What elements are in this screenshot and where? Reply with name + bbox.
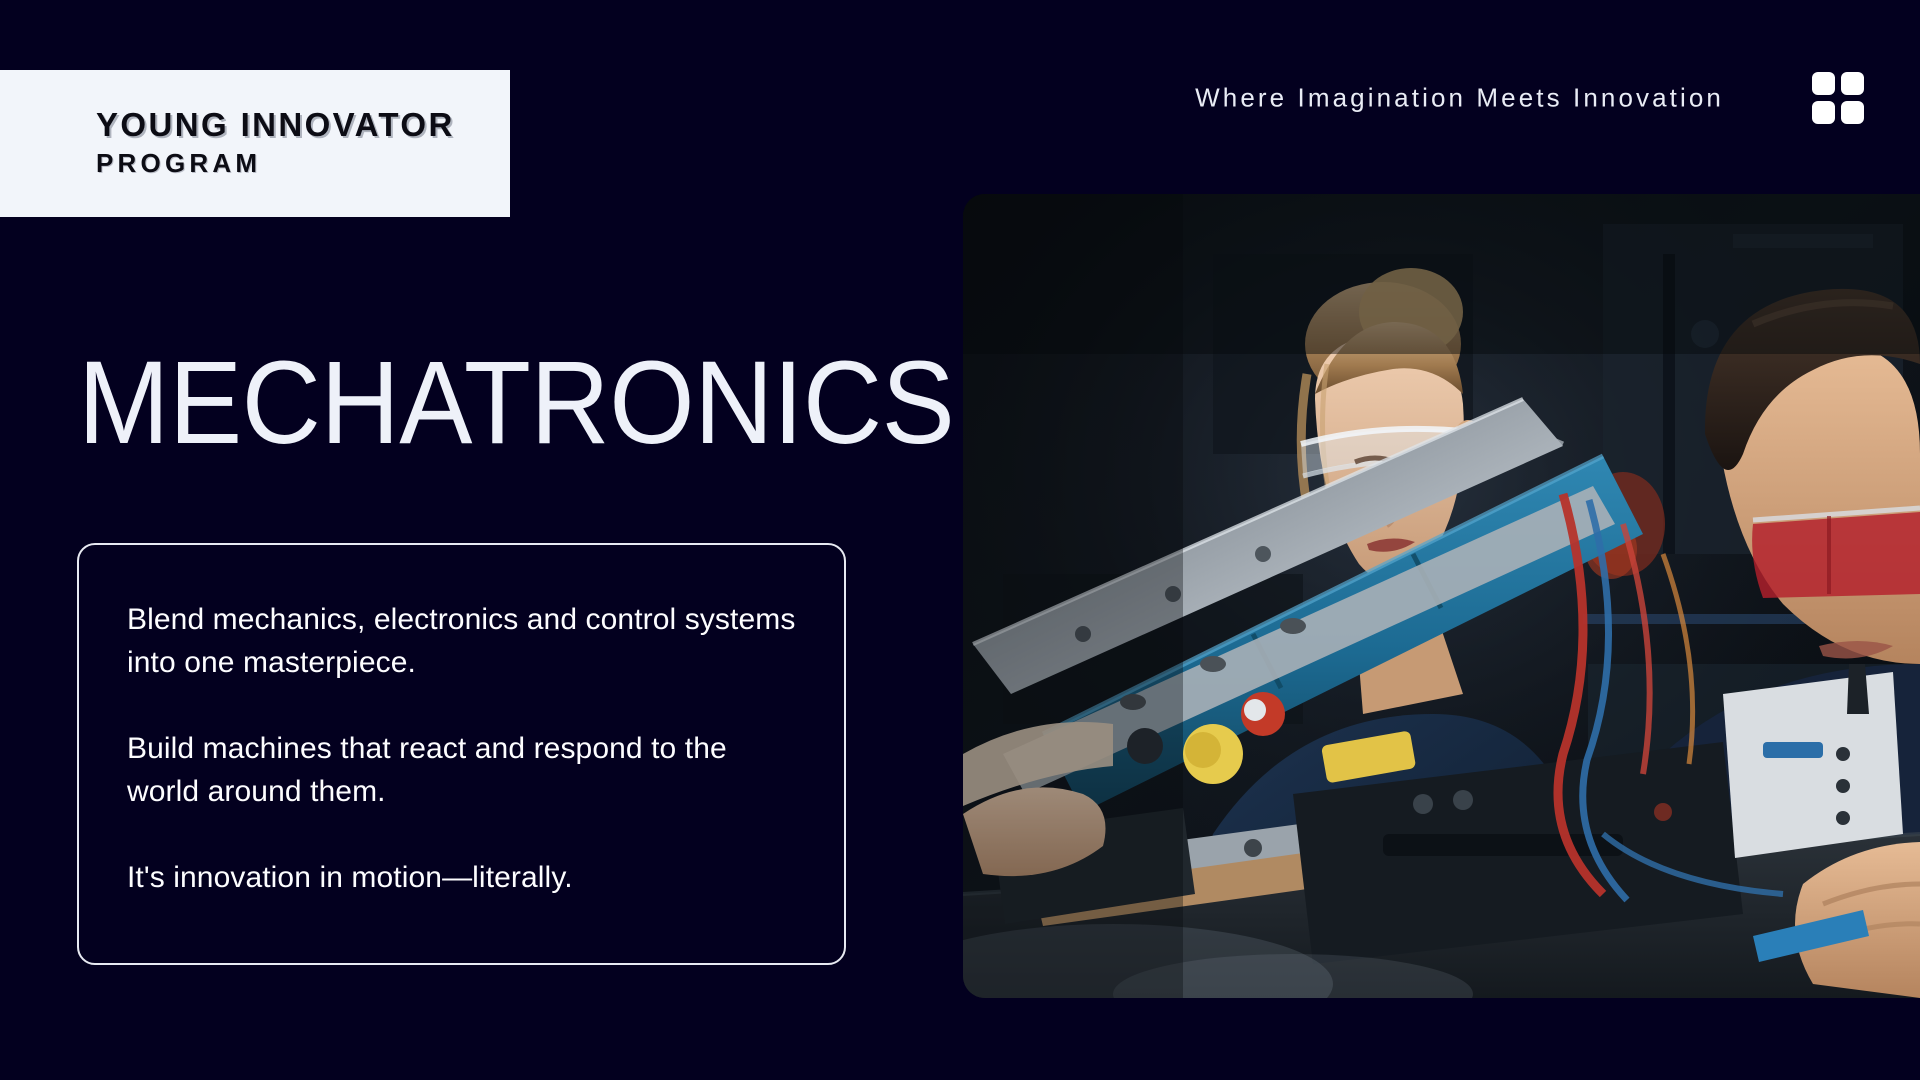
description-box: Blend mechanics, electronics and control… [77, 543, 846, 965]
description-paragraph: Blend mechanics, electronics and control… [127, 599, 796, 684]
grid-2x2-icon[interactable] [1812, 72, 1864, 124]
logo-title-secondary: PROGRAM [96, 145, 510, 181]
description-paragraph: Build machines that react and respond to… [127, 728, 796, 813]
header-tagline: Where Imagination Meets Innovation [1195, 83, 1724, 114]
grid-cell-bottom-right [1841, 101, 1864, 124]
grid-cell-bottom-left [1812, 101, 1835, 124]
grid-cell-top-left [1812, 72, 1835, 95]
slide-root: YOUNG INNOVATOR PROGRAM Where Imaginatio… [0, 0, 1920, 1080]
description-paragraph: It's innovation in motion—literally. [127, 857, 796, 900]
logo-plate: YOUNG INNOVATOR PROGRAM [0, 70, 510, 217]
hero-photo [963, 194, 1920, 998]
logo-title-primary: YOUNG INNOVATOR [96, 106, 510, 145]
page-title: MECHATRONICS [78, 344, 954, 462]
grid-cell-top-right [1841, 72, 1864, 95]
hero-photo-illustration [963, 194, 1920, 998]
